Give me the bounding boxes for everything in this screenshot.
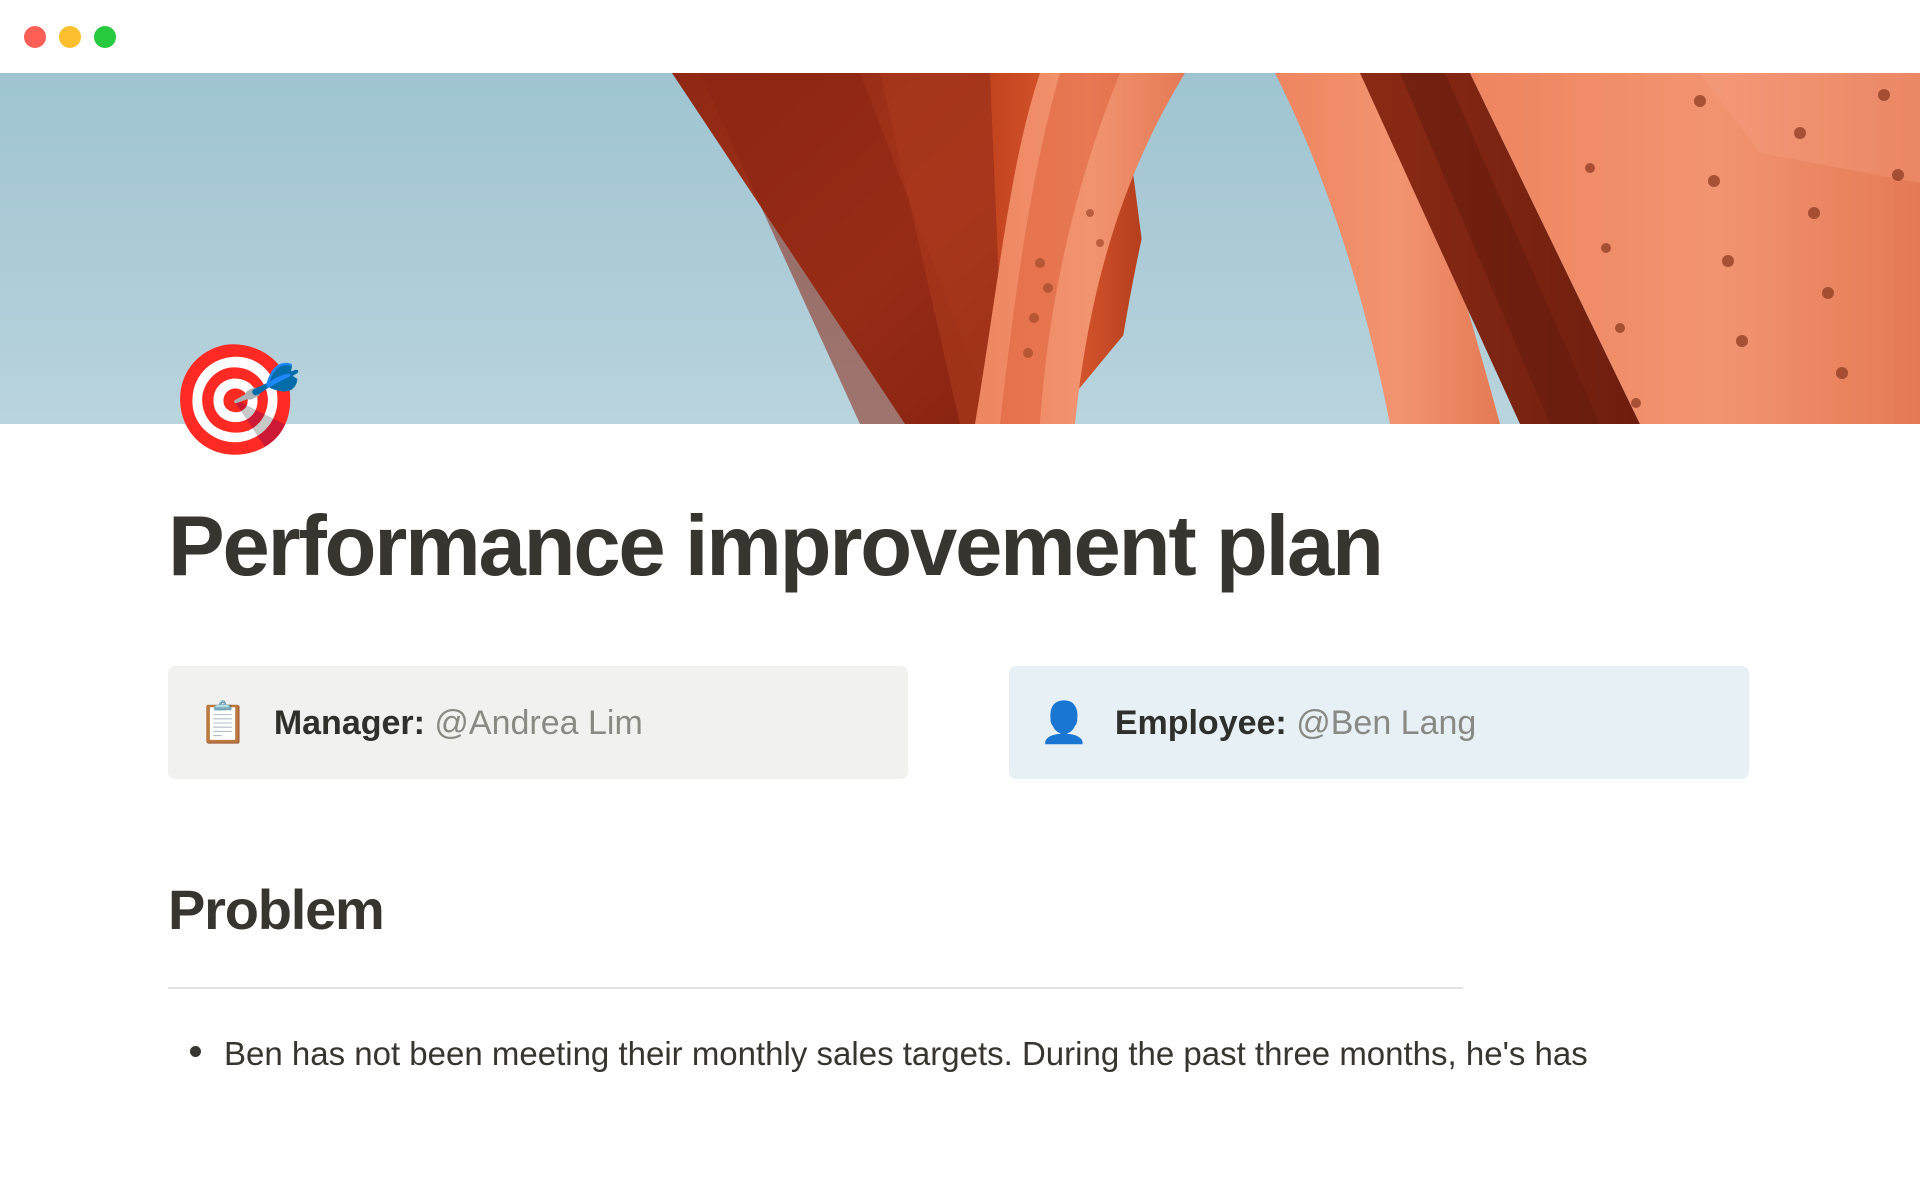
callout-employee-mention[interactable]: @Ben Lang (1296, 704, 1476, 742)
bust-in-silhouette-emoji: 👤 (1039, 703, 1089, 743)
section-heading-problem[interactable]: Problem (168, 879, 1768, 941)
bullet-dot-icon (190, 1046, 201, 1057)
dart-target-emoji[interactable]: 🎯 (168, 346, 302, 454)
callout-employee[interactable]: 👤 Employee: @Ben Lang (1009, 666, 1749, 779)
list-item-text: Ben has not been meeting their monthly s… (224, 1029, 1588, 1079)
close-window-button[interactable] (24, 26, 46, 48)
callout-employee-label: Employee: (1115, 704, 1287, 742)
callout-manager-mention[interactable]: @Andrea Lim (434, 704, 642, 742)
maximize-window-button[interactable] (94, 26, 116, 48)
callout-row: 📋 Manager: @Andrea Lim 👤 Employee: @Ben … (168, 666, 1768, 779)
clipboard-emoji: 📋 (198, 703, 248, 743)
problem-bullet-list: Ben has not been meeting their monthly s… (168, 1029, 1768, 1079)
callout-manager[interactable]: 📋 Manager: @Andrea Lim (168, 666, 908, 779)
minimize-window-button[interactable] (59, 26, 81, 48)
callout-manager-text: Manager: @Andrea Lim (274, 701, 643, 745)
document-body: 🎯 Performance improvement plan 📋 Manager… (0, 424, 1920, 1200)
window-title-bar (0, 0, 1920, 73)
callout-manager-label: Manager: (274, 704, 425, 742)
callout-employee-text: Employee: @Ben Lang (1115, 701, 1477, 745)
document-content: Performance improvement plan 📋 Manager: … (168, 424, 1768, 1078)
section-divider (168, 987, 1463, 989)
list-item[interactable]: Ben has not been meeting their monthly s… (168, 1029, 1768, 1079)
page-title[interactable]: Performance improvement plan (168, 502, 1768, 592)
